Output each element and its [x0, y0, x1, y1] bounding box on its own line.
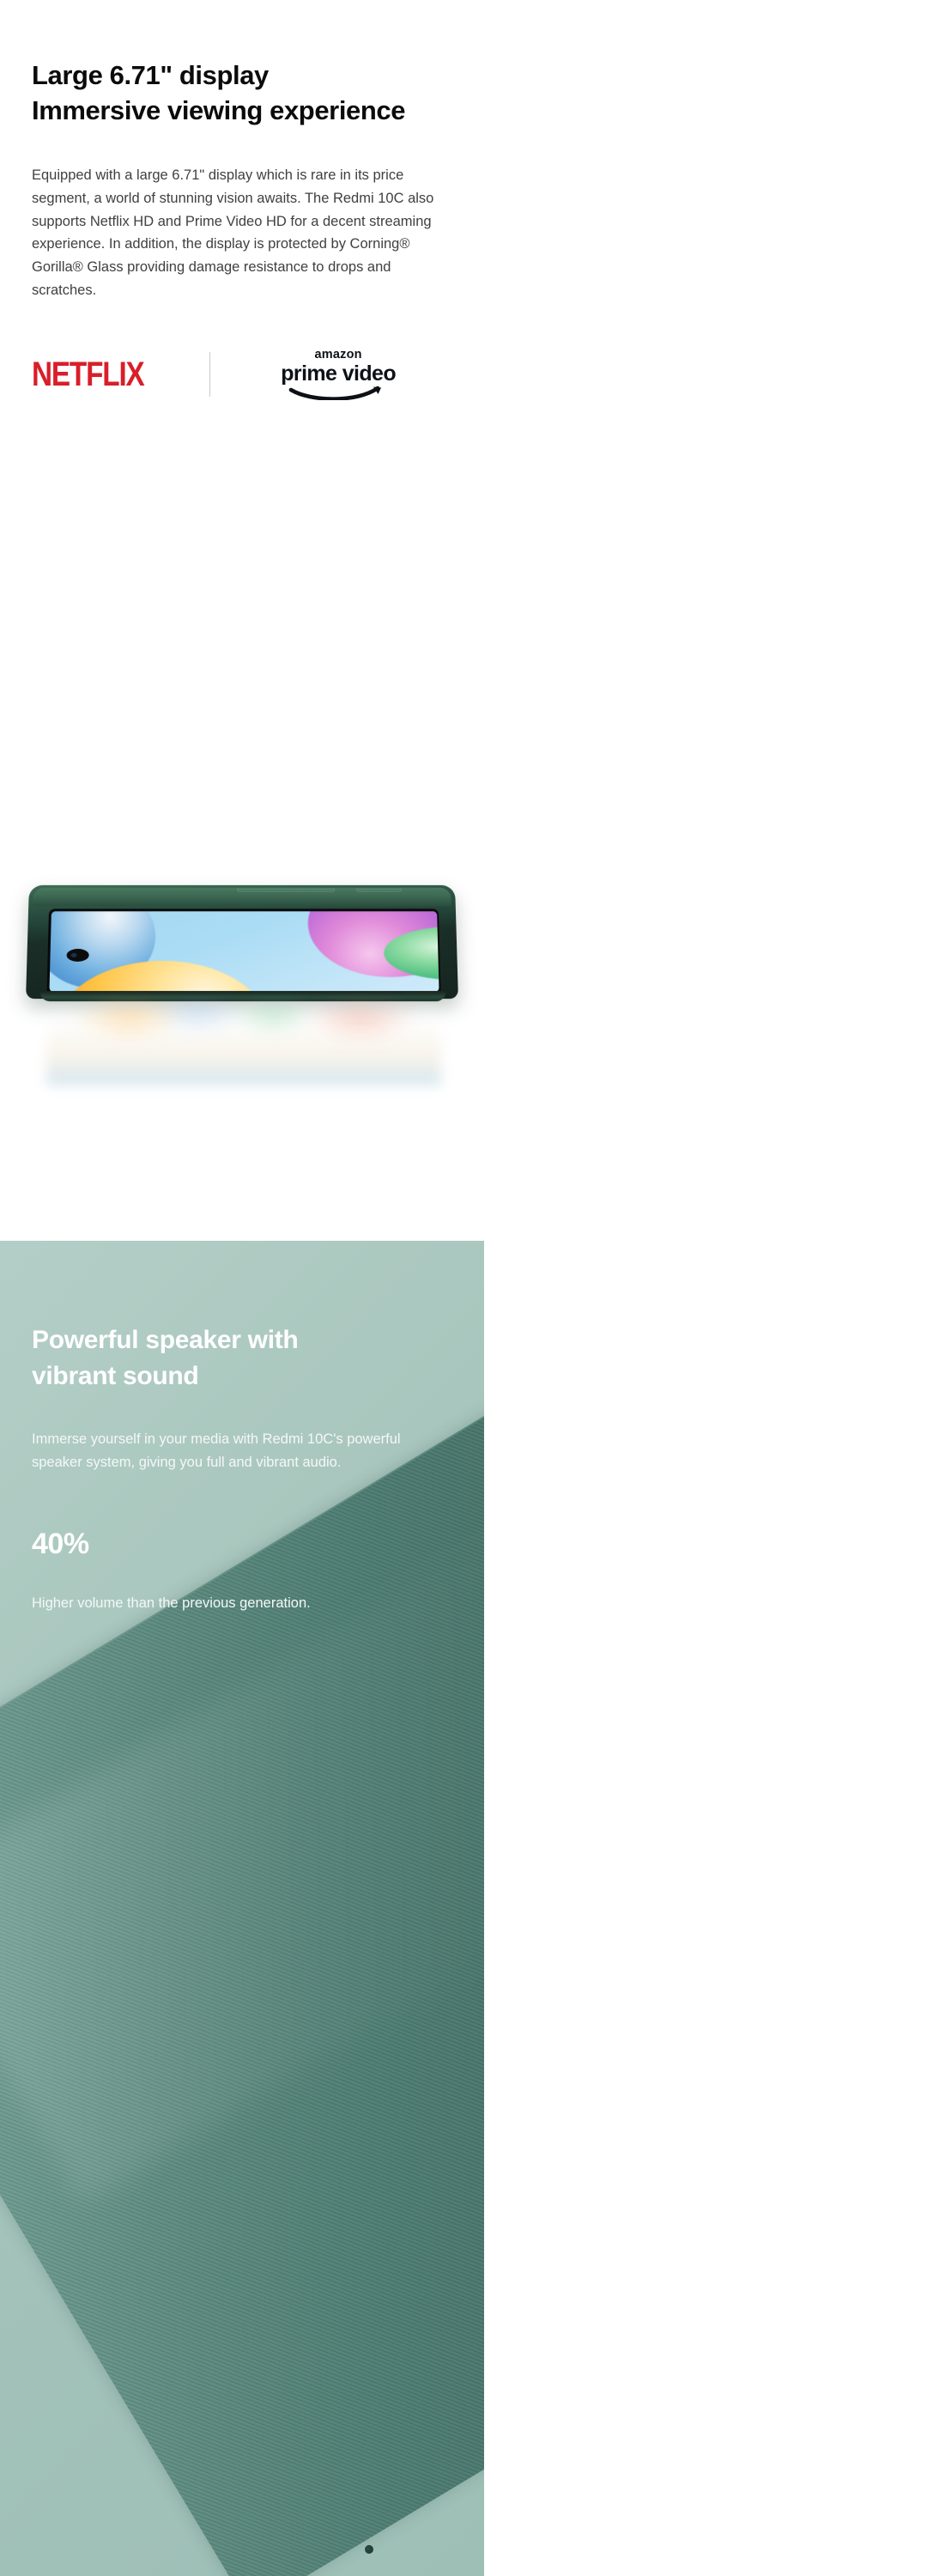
microphone-hole-icon: [363, 2543, 375, 2555]
volume-stat-caption: Higher volume than the previous generati…: [32, 1593, 452, 1614]
amazon-smile-arrow: [288, 386, 388, 400]
display-headline: Large 6.71" display Immersive viewing ex…: [32, 58, 452, 129]
amazon-prime-video-logo: amazon prime video: [281, 349, 396, 401]
speaker-headline-line-2: vibrant sound: [32, 1358, 452, 1394]
streaming-brand-logos: NETFLIX amazon prime video: [32, 349, 452, 399]
display-section-content: Large 6.71" display Immersive viewing ex…: [0, 0, 484, 399]
display-feature-section: Large 6.71" display Immersive viewing ex…: [0, 0, 484, 1241]
power-button: [356, 889, 402, 892]
phone-screen: [46, 908, 440, 994]
speaker-headline-line-1: Powerful speaker with: [32, 1322, 452, 1358]
display-headline-line-1: Large 6.71" display: [32, 58, 452, 94]
volume-stat-value: 40%: [32, 1529, 452, 1558]
display-body-copy: Equipped with a large 6.71" display whic…: [32, 164, 442, 302]
display-headline-line-2: Immersive viewing experience: [32, 94, 452, 129]
phone-reflection-color-tint: [69, 1003, 421, 1072]
speaker-headline: Powerful speaker with vibrant sound: [32, 1322, 452, 1394]
prime-video-wordmark: prime video: [281, 363, 396, 385]
amazon-wordmark: amazon: [315, 349, 362, 361]
phone-front-body: [26, 885, 458, 999]
speaker-section-content: Powerful speaker with vibrant sound Imme…: [0, 1241, 484, 1614]
phone-front-image: [0, 859, 484, 1241]
phone-top-edge: [33, 888, 451, 907]
speaker-body-copy: Immerse yourself in your media with Redm…: [32, 1428, 418, 1473]
brand-divider: [209, 352, 210, 397]
wallpaper-art: [49, 911, 439, 992]
phone-bottom-edge: [39, 991, 446, 1001]
netflix-logo: NETFLIX: [32, 357, 144, 392]
speaker-feature-section: Powerful speaker with vibrant sound Imme…: [0, 1241, 484, 2576]
volume-button: [237, 889, 335, 892]
